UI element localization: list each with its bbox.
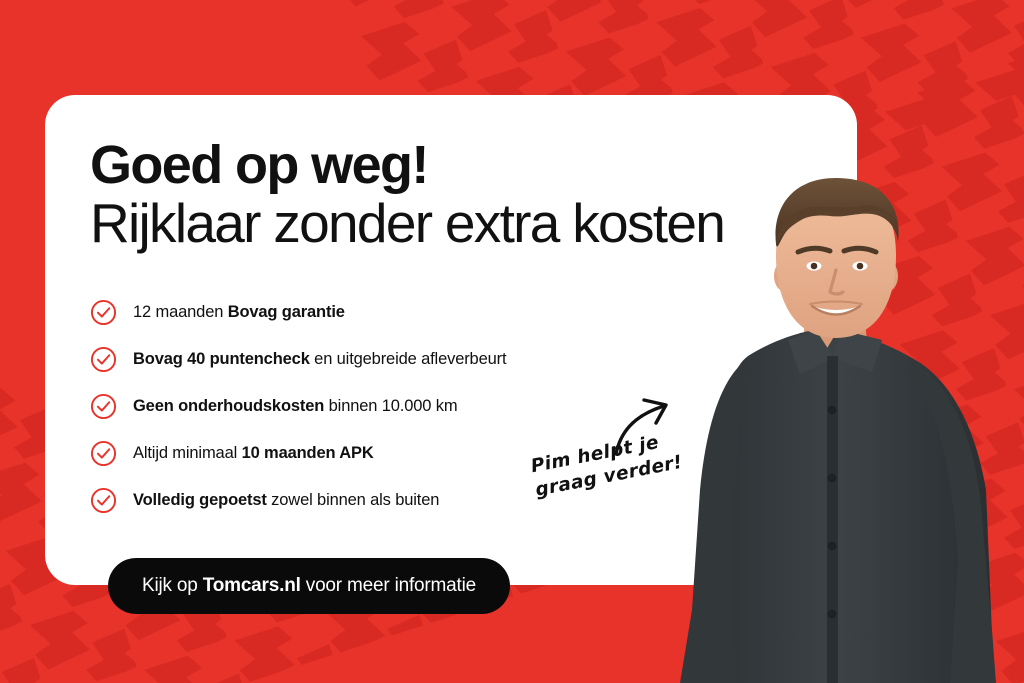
list-item: Geen onderhoudskosten binnen 10.000 km (90, 383, 506, 430)
check-circle-icon (90, 299, 117, 326)
check-circle-icon (90, 393, 117, 420)
list-item: Bovag 40 puntencheck en uitgebreide afle… (90, 336, 506, 383)
promo-banner: Goed op weg! Rijklaar zonder extra koste… (0, 0, 1024, 683)
cta-label: Kijk op Tomcars.nl voor meer informatie (142, 575, 476, 597)
list-item: Volledig gepoetst zowel binnen als buite… (90, 477, 506, 524)
check-circle-icon (90, 440, 117, 467)
list-item-label: Geen onderhoudskosten binnen 10.000 km (133, 397, 457, 416)
check-circle-icon (90, 487, 117, 514)
list-item: 12 maanden Bovag garantie (90, 289, 506, 336)
headline-block: Goed op weg! Rijklaar zonder extra koste… (45, 138, 805, 253)
list-item-label: 12 maanden Bovag garantie (133, 303, 345, 322)
headline-primary: Goed op weg! (90, 138, 805, 193)
list-item-label: Bovag 40 puntencheck en uitgebreide afle… (133, 350, 506, 369)
check-circle-icon (90, 346, 117, 373)
list-item-label: Volledig gepoetst zowel binnen als buite… (133, 491, 439, 510)
headline-secondary: Rijklaar zonder extra kosten (90, 195, 805, 253)
list-item: Altijd minimaal 10 maanden APK (90, 430, 506, 477)
list-item-label: Altijd minimaal 10 maanden APK (133, 444, 374, 463)
cta-button[interactable]: Kijk op Tomcars.nl voor meer informatie (108, 558, 510, 614)
benefits-list: 12 maanden Bovag garantie Bovag 40 punte… (90, 289, 506, 524)
